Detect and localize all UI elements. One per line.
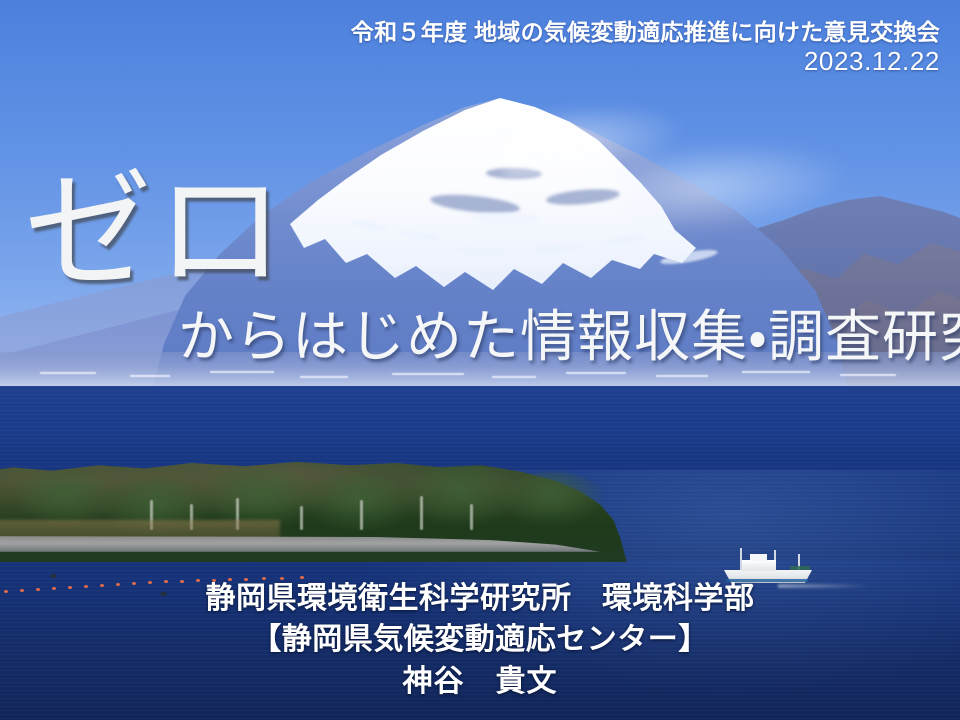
event-title: 令和５年度 地域の気候変動適応推進に向けた意見交換会 — [0, 18, 940, 46]
footer-presenter: 神谷 貴文 — [0, 661, 960, 702]
event-date: 2023.12.22 — [0, 46, 940, 78]
title-emphasis-word: ゼロ — [24, 168, 288, 296]
slide-header: 令和５年度 地域の気候変動適応推進に向けた意見交換会 2023.12.22 — [0, 18, 940, 78]
footer-center-name: 【静岡県気候変動適応センター】 — [0, 619, 960, 660]
title-main-text: からはじめた情報収集・調査研究 — [178, 308, 960, 367]
footer-organization: 静岡県環境衛生科学研究所 環境科学部 — [0, 578, 960, 619]
title-slide: 令和５年度 地域の気候変動適応推進に向けた意見交換会 2023.12.22 ゼロ… — [0, 0, 960, 720]
slide-footer: 静岡県環境衛生科学研究所 環境科学部 【静岡県気候変動適応センター】 神谷 貴文 — [0, 578, 960, 702]
